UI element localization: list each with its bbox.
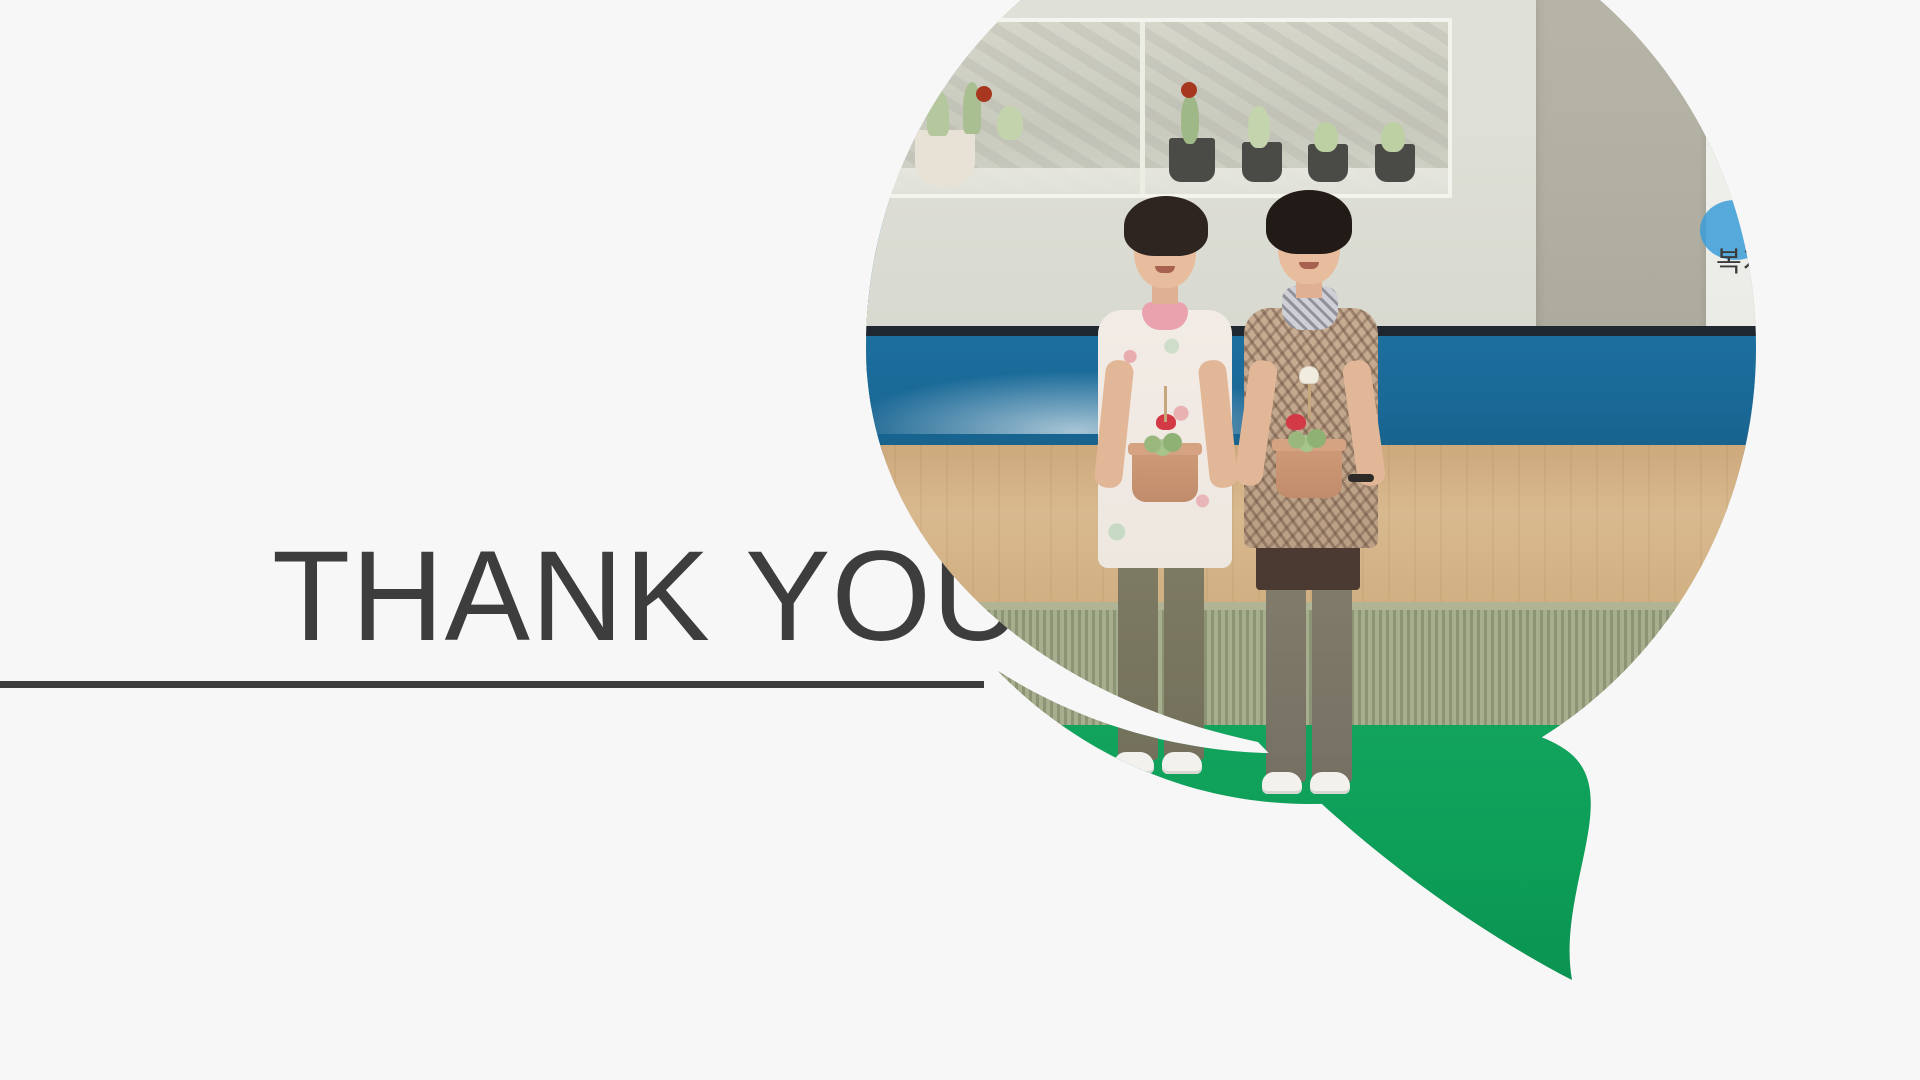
trouser-leg: [1118, 550, 1158, 760]
banner-label: 복지관: [1716, 240, 1766, 280]
succulent-leaf: [927, 90, 949, 136]
dark-pot: [1242, 142, 1282, 182]
succulent-leaf: [1181, 94, 1199, 144]
red-carnation: [1286, 414, 1306, 430]
pink-collar: [1142, 302, 1188, 330]
backdrop-glare: [866, 372, 1306, 434]
shoe: [1310, 772, 1350, 794]
mouth: [1299, 262, 1319, 269]
potted-succulent: [1134, 426, 1196, 456]
succulent-cluster: [1314, 122, 1338, 152]
projected-photo-right: [1145, 22, 1449, 194]
photo-scene: 오늘 심을 식물입니다 (다육식물): [866, 0, 1766, 1000]
plant-pick-stick: [1308, 382, 1311, 418]
white-pot: [915, 130, 975, 186]
red-cactus-icon: [976, 86, 992, 102]
plant-pick-heart: [1299, 366, 1319, 384]
dark-pot: [1169, 138, 1215, 182]
held-flower-pot: [1132, 450, 1198, 502]
trouser-leg: [1164, 550, 1204, 760]
slide-canvas: THANK YOU 오늘 심을 식물입니다: [0, 0, 1920, 1080]
pink-petal-decor: [1746, 188, 1766, 218]
bracelet: [1348, 474, 1374, 482]
speech-bubble-clip: 오늘 심을 식물입니다 (다육식물): [866, 0, 1766, 1000]
succulent-leaf: [1248, 106, 1270, 148]
projected-photo-left: [866, 22, 1140, 194]
shoe: [1114, 752, 1154, 774]
headline-divider: [0, 681, 984, 688]
mouth: [1155, 266, 1175, 273]
hair: [1124, 196, 1208, 256]
trouser-leg: [1312, 570, 1352, 782]
shoe: [1262, 772, 1302, 794]
succulent-cluster: [1381, 122, 1405, 152]
hair: [1266, 190, 1352, 254]
red-cactus-icon: [1181, 82, 1197, 98]
succulent-cluster: [997, 106, 1023, 140]
plant-pick-stick: [1164, 386, 1167, 422]
pebble-ground: [866, 168, 1140, 194]
speech-bubble-photo-frame: 오늘 심을 식물입니다 (다육식물): [866, 0, 1766, 1000]
held-flower-pot: [1276, 446, 1342, 498]
trouser-leg: [1266, 570, 1306, 782]
shoe: [1162, 752, 1202, 774]
projected-photo-pair: [866, 18, 1452, 198]
